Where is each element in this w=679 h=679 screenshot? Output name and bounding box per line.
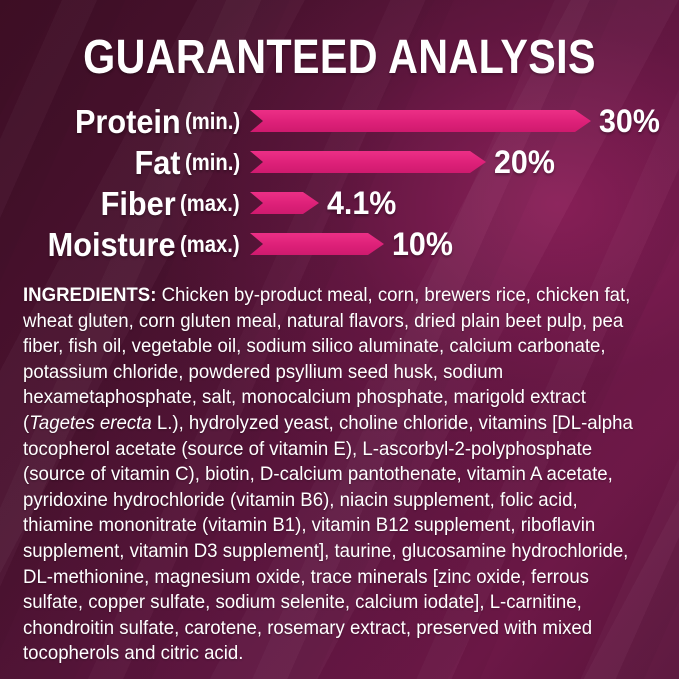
nutrient-qualifier: (min.) (185, 149, 240, 176)
ingredients-paragraph: INGREDIENTS: Chicken by-product meal, co… (23, 283, 641, 667)
nutrient-label-moisture: Moisture(max.) (38, 224, 248, 265)
ingredients-latin-name: Tagetes erecta (29, 413, 151, 434)
nutrient-name: Moisture (47, 226, 175, 264)
nutrient-name: Fat (134, 144, 180, 182)
nutrient-label-protein: Protein(min.) (67, 101, 248, 142)
guaranteed-analysis-panel: GUARANTEED ANALYSIS Protein(min.) 30% Fa… (0, 0, 679, 679)
nutrient-bar-protein (250, 110, 591, 132)
ingredients-heading: INGREDIENTS: (23, 285, 156, 306)
page-title: GUARANTEED ANALYSIS (48, 30, 632, 85)
nutrient-rows: Protein(min.) 30% Fat(min.) 20% Fiber(ma… (0, 101, 679, 265)
nutrient-bar-fat (250, 151, 486, 173)
nutrient-value-protein: 30% (599, 101, 660, 142)
nutrient-row-protein: Protein(min.) 30% (0, 101, 679, 142)
nutrient-bar-moisture (250, 233, 384, 255)
nutrient-qualifier: (max.) (180, 231, 240, 258)
nutrient-qualifier: (min.) (185, 108, 240, 135)
nutrient-name: Fiber (100, 185, 175, 223)
nutrient-row-fiber: Fiber(max.) 4.1% (0, 183, 679, 224)
nutrient-row-fat: Fat(min.) 20% (0, 142, 679, 183)
nutrient-value-moisture: 10% (392, 224, 453, 265)
nutrient-label-fat: Fat(min.) (131, 142, 248, 183)
nutrient-row-moisture: Moisture(max.) 10% (0, 224, 679, 265)
nutrient-qualifier: (max.) (180, 190, 240, 217)
ingredients-body-first: Chicken by-product meal, corn, brewers r… (23, 285, 630, 434)
nutrient-name: Protein (75, 103, 181, 141)
nutrient-value-fat: 20% (494, 142, 555, 183)
ingredients-body-second: L.), hydrolyzed yeast, choline chloride,… (23, 413, 633, 664)
nutrient-label-fiber: Fiber(max.) (95, 183, 248, 224)
nutrient-bar-fiber (250, 192, 319, 214)
nutrient-value-fiber: 4.1% (327, 183, 396, 224)
